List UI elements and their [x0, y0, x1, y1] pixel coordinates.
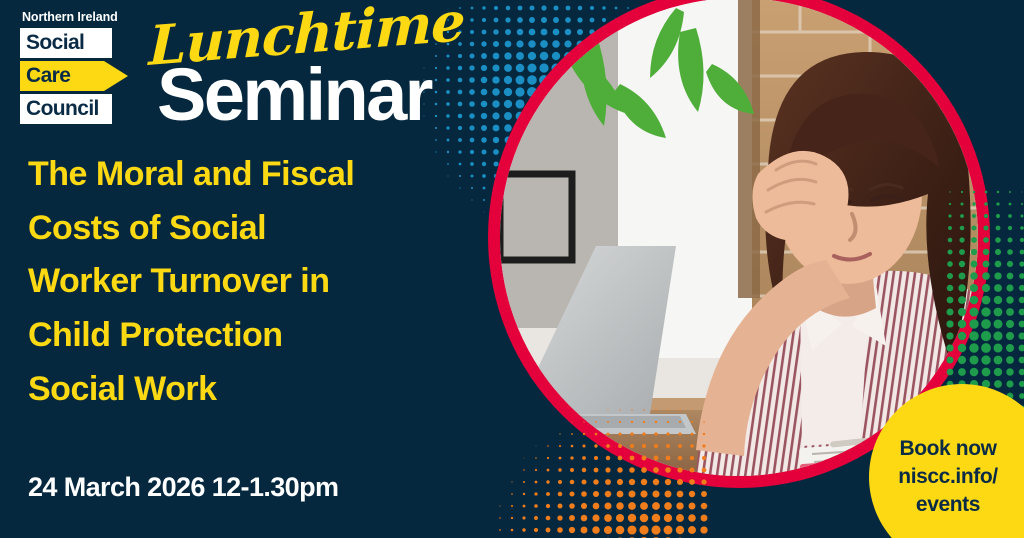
logo-strapline: Northern Ireland: [20, 10, 128, 24]
booking-line-2: niscc.info/: [898, 463, 997, 491]
title-line-5: Social Work: [28, 363, 488, 417]
page-title: The Moral and Fiscal Costs of Social Wor…: [28, 148, 488, 417]
booking-line-1: Book now: [899, 435, 996, 463]
event-datetime: 24 March 2026 12-1.30pm: [28, 472, 338, 503]
logo-word-care: Care: [26, 65, 70, 86]
logo-word-social: Social: [20, 28, 112, 58]
title-line-4: Child Protection: [28, 309, 488, 363]
header-main-word: Seminar: [157, 58, 431, 132]
title-line-1: The Moral and Fiscal: [28, 148, 488, 202]
booking-line-3: events: [916, 491, 980, 519]
title-line-3: Worker Turnover in: [28, 255, 488, 309]
logo-word-care-row: Care: [20, 61, 128, 91]
title-line-2: Costs of Social: [28, 202, 488, 256]
logo-word-council: Council: [20, 94, 112, 124]
niscc-logo: Northern Ireland Social Care Council: [20, 10, 128, 127]
seminar-promo-poster: Northern Ireland Social Care Council Lun…: [0, 0, 1024, 538]
